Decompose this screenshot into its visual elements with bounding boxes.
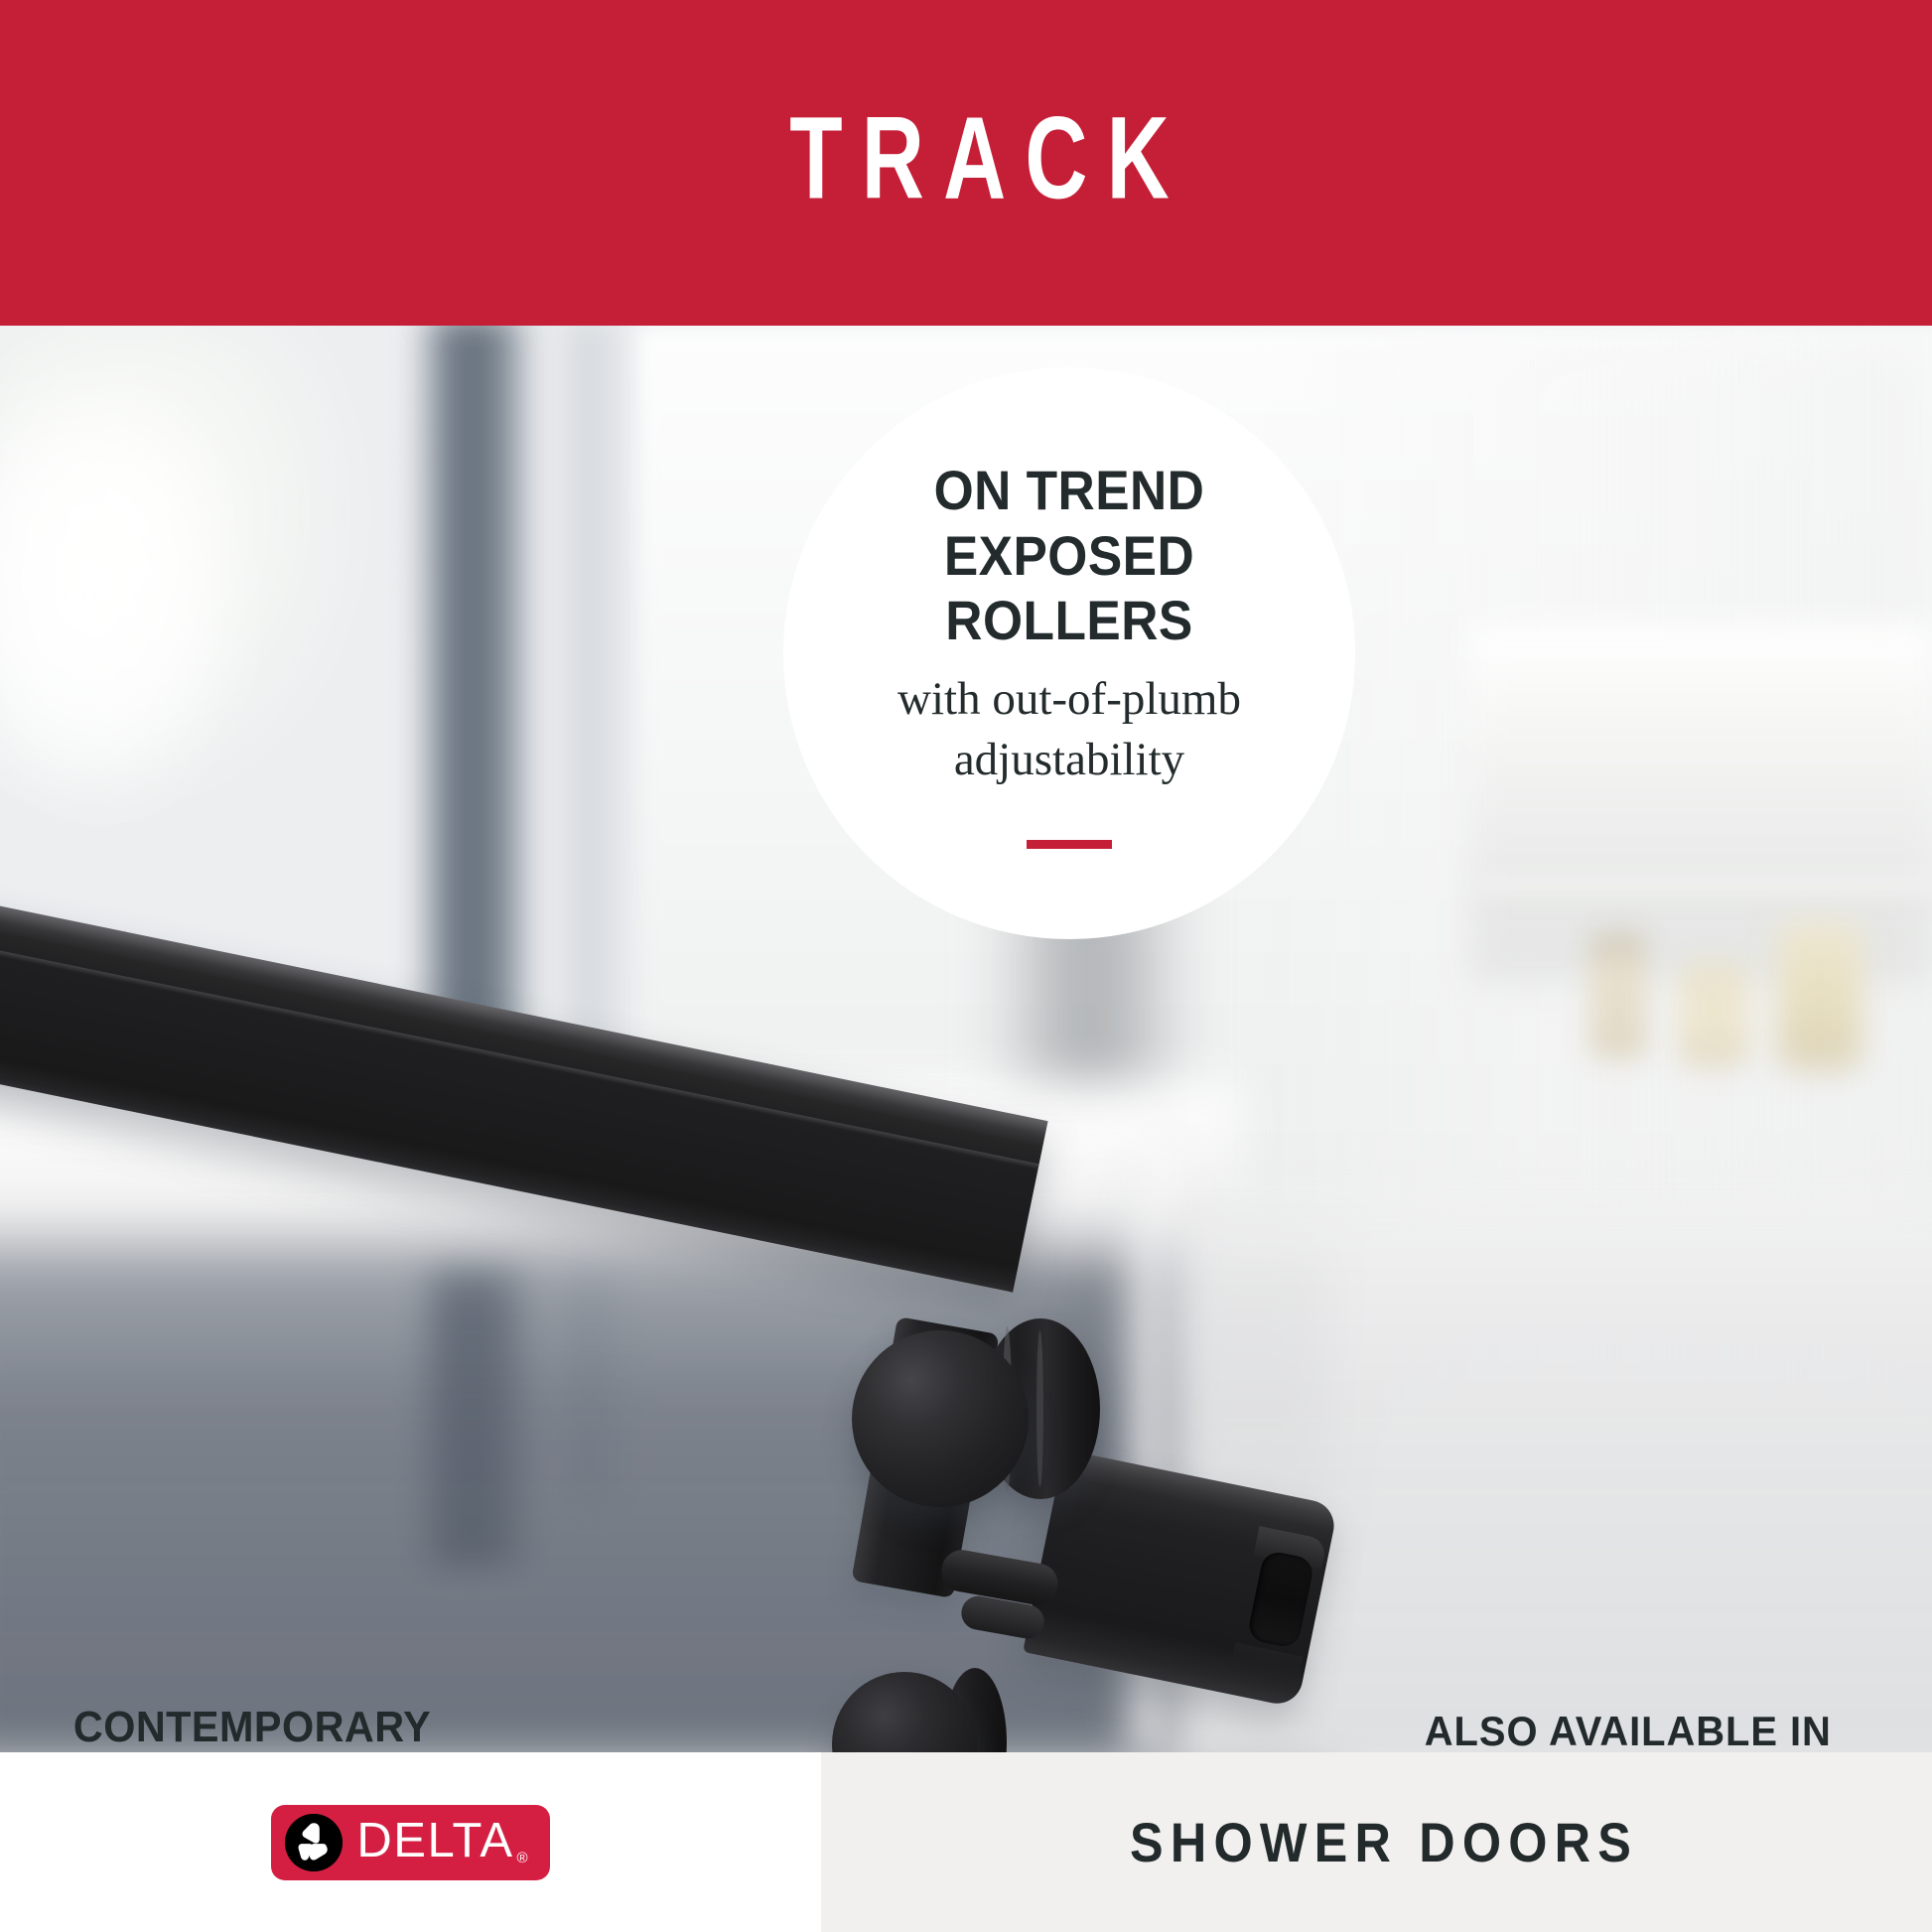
footer-tagline-area: SHOWER DOORS bbox=[821, 1752, 1932, 1932]
roller-rim-groove bbox=[1036, 1330, 1043, 1487]
footer-brand-area: DELTA ® bbox=[0, 1752, 821, 1932]
feature-callout-headline: ON TREND EXPOSED ROLLERS bbox=[819, 458, 1319, 653]
feature-callout-subline-line-1: with out-of-plumb bbox=[897, 669, 1241, 730]
delta-wordmark: DELTA bbox=[356, 1817, 513, 1865]
footer-tagline: SHOWER DOORS bbox=[1086, 1810, 1667, 1874]
delta-triangle-icon bbox=[285, 1814, 343, 1871]
feature-callout-headline-line-1: ON TREND bbox=[839, 458, 1300, 523]
roller-wheel-upper bbox=[852, 1330, 1029, 1507]
header-banner: TRACK bbox=[0, 0, 1932, 326]
available-finishes: ALSO AVAILABLE IN CHROME BRUSHED NICKEL bbox=[1370, 1708, 1886, 1752]
delta-logo[interactable]: DELTA ® bbox=[271, 1805, 549, 1880]
feature-callout-badge: ON TREND EXPOSED ROLLERS with out-of-plu… bbox=[783, 367, 1355, 939]
product-photo: CONTEMPORARY TRACK IN MATTE BLACK ALSO A… bbox=[0, 326, 1932, 1752]
track-bar bbox=[0, 882, 1047, 1293]
track-channel-end bbox=[1023, 1449, 1338, 1708]
feature-callout-accent-rule bbox=[1027, 840, 1112, 849]
product-caption: CONTEMPORARY TRACK IN MATTE BLACK bbox=[44, 1701, 461, 1752]
page-title-text: TRACK bbox=[769, 100, 1187, 217]
product-caption-line-1: CONTEMPORARY bbox=[57, 1701, 449, 1752]
footer-bar: DELTA ® SHOWER DOORS bbox=[0, 1752, 1932, 1932]
feature-callout-subline-line-2: adjustability bbox=[897, 730, 1241, 790]
feature-callout-headline-line-2: EXPOSED ROLLERS bbox=[839, 523, 1300, 653]
poster-canvas: CONTEMPORARY TRACK IN MATTE BLACK ALSO A… bbox=[0, 0, 1932, 1932]
registered-trademark-icon: ® bbox=[517, 1850, 528, 1866]
page-title: TRACK bbox=[0, 102, 1932, 219]
track-bar-bevel bbox=[0, 882, 1047, 1147]
available-finishes-title: ALSO AVAILABLE IN bbox=[1370, 1708, 1886, 1752]
feature-callout-subline: with out-of-plumb adjustability bbox=[897, 669, 1241, 790]
